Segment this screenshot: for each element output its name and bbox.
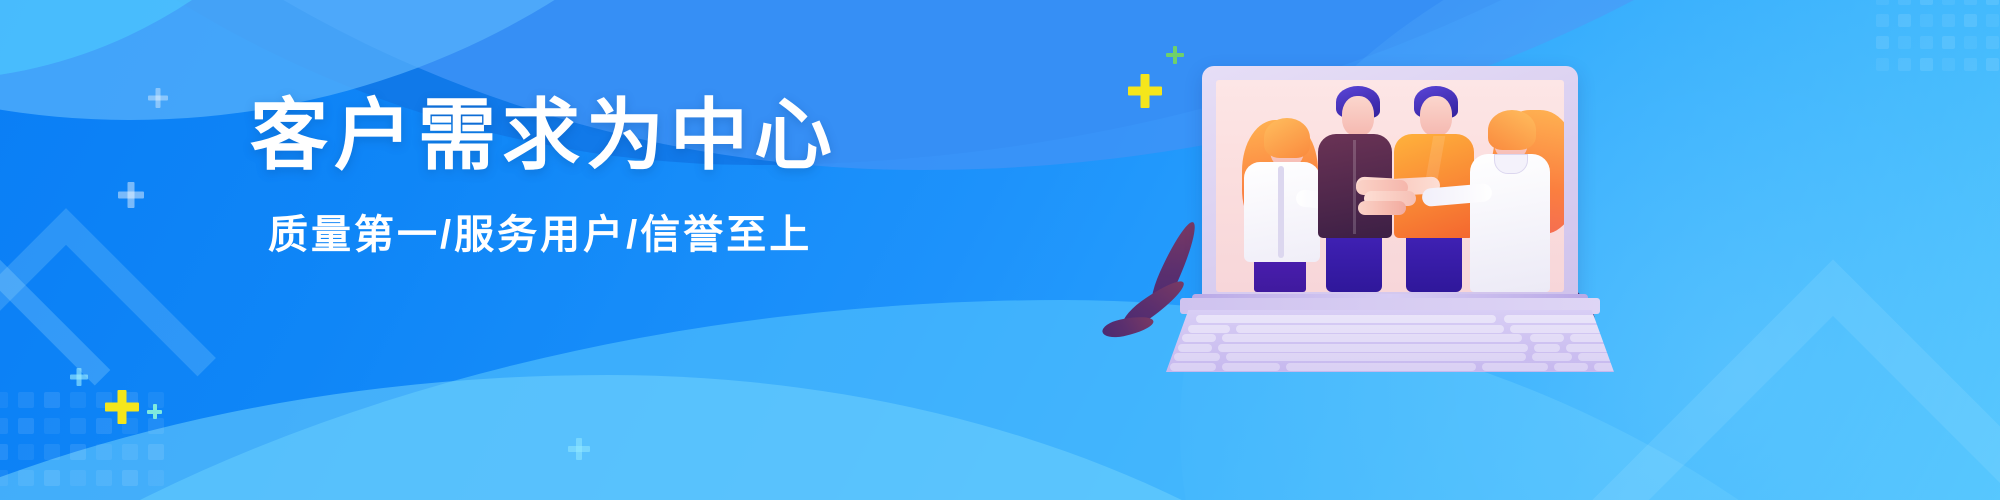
dot-cell xyxy=(1986,14,1999,27)
keyboard-key xyxy=(1178,344,1212,352)
dot-cell xyxy=(96,470,112,486)
banner-subtitle: 质量第一/服务用户/信誉至上 xyxy=(268,202,890,260)
chevron-right xyxy=(1571,259,2000,500)
plus-icon-white-mid xyxy=(118,182,144,208)
keyboard-key xyxy=(1482,363,1548,371)
dot-cell xyxy=(1920,14,1933,27)
laptop-screen xyxy=(1216,80,1564,292)
plus-icon-yellow-bottom xyxy=(105,390,139,424)
keyboard-key xyxy=(1566,344,1632,352)
plus-icon-cyan-center xyxy=(568,438,590,460)
wave-bottom-light xyxy=(0,300,2000,500)
dot-cell xyxy=(148,444,164,460)
leaf-icon xyxy=(1101,313,1155,340)
banner-copy: 客户需求为中心 质量第一/服务用户/信誉至上 xyxy=(250,96,890,260)
keyboard-key xyxy=(1222,334,1522,342)
dot-cell xyxy=(70,418,86,434)
keyboard-key xyxy=(1218,344,1528,352)
dot-cell xyxy=(1898,58,1911,71)
keyboard-key xyxy=(1222,363,1280,371)
dot-cell xyxy=(18,392,34,408)
laptop-keyboard xyxy=(1166,310,1614,372)
dot-cell xyxy=(1876,58,1889,71)
keyboard-key xyxy=(1174,353,1220,361)
dot-cell xyxy=(70,392,86,408)
team-handstack-illustration xyxy=(1216,80,1564,292)
head xyxy=(1420,96,1452,136)
plus-icon-cyan-faint xyxy=(70,368,88,386)
dot-cell xyxy=(1986,58,1999,71)
dot-cell xyxy=(1920,0,1933,5)
plus-icon-cyan-bottom xyxy=(147,404,162,419)
keyboard-key xyxy=(1570,334,1626,342)
white-dress xyxy=(1470,154,1550,292)
laptop-lid xyxy=(1202,66,1578,302)
keyboard-key xyxy=(1578,353,1634,361)
dot-cell xyxy=(1942,0,1955,5)
page-title: 客户需求为中心 xyxy=(250,96,890,176)
dot-cell xyxy=(1876,0,1889,5)
dot-cell xyxy=(1986,36,1999,49)
keyboard-key xyxy=(1182,334,1216,342)
dot-cell xyxy=(148,470,164,486)
dot-cell xyxy=(0,392,8,408)
keyboard-key xyxy=(1226,353,1526,361)
dot-cell xyxy=(18,470,34,486)
dot-cell xyxy=(70,470,86,486)
dot-cell xyxy=(1986,0,1999,5)
dot-cell xyxy=(44,418,60,434)
keyboard-key xyxy=(1532,353,1572,361)
keyboard-key xyxy=(1504,315,1600,323)
keyboard-key xyxy=(1510,325,1606,333)
dot-cell xyxy=(1942,58,1955,71)
dot-cell xyxy=(1920,36,1933,49)
dot-cell xyxy=(44,392,60,408)
cardigan-lapel xyxy=(1278,166,1284,258)
keyboard-key xyxy=(1188,325,1230,333)
dot-cell xyxy=(122,470,138,486)
hand-stack xyxy=(1354,176,1424,216)
keyboard-key xyxy=(1236,325,1504,333)
keyboard-key xyxy=(1286,363,1476,371)
promo-banner: 客户需求为中心 质量第一/服务用户/信誉至上 xyxy=(0,0,2000,500)
keyboard-key xyxy=(1170,363,1216,371)
head xyxy=(1342,96,1374,136)
dot-cell xyxy=(0,470,8,486)
plus-icon-white-upper xyxy=(148,88,168,108)
hand xyxy=(1358,201,1406,215)
dot-grid-top-right xyxy=(1876,0,2000,102)
keyboard-key xyxy=(1594,363,1638,371)
keyboard-key xyxy=(1554,363,1588,371)
person-woman-right xyxy=(1462,90,1564,292)
dot-cell xyxy=(1964,58,1977,71)
hair-front xyxy=(1488,110,1536,150)
dot-cell xyxy=(1964,0,1977,5)
dot-cell xyxy=(0,444,8,460)
dot-cell xyxy=(122,444,138,460)
dot-cell xyxy=(148,418,164,434)
keyboard-key xyxy=(1530,334,1564,342)
dot-cell xyxy=(96,444,112,460)
keyboard-key xyxy=(1196,315,1496,323)
dot-cell xyxy=(18,418,34,434)
dot-cell xyxy=(1920,58,1933,71)
dot-cell xyxy=(70,444,86,460)
laptop-illustration xyxy=(1180,66,1600,366)
dot-cell xyxy=(1898,14,1911,27)
wave-top-cyan xyxy=(0,0,420,80)
dot-cell xyxy=(1898,0,1911,5)
keyboard-key xyxy=(1534,344,1560,352)
plus-icon-yellow-top xyxy=(1128,74,1162,108)
dot-cell xyxy=(1876,14,1889,27)
dot-cell xyxy=(1942,14,1955,27)
wave-bottom-light-2 xyxy=(0,375,1580,500)
dot-cell xyxy=(1942,36,1955,49)
dot-cell xyxy=(44,444,60,460)
dot-cell xyxy=(1964,36,1977,49)
dot-cell xyxy=(1876,36,1889,49)
plus-icon-green-top xyxy=(1166,46,1184,64)
dot-cell xyxy=(1964,14,1977,27)
dot-cell xyxy=(1898,36,1911,49)
dot-cell xyxy=(18,444,34,460)
hair-front xyxy=(1264,118,1310,158)
dot-cell xyxy=(0,418,8,434)
dot-grid-bottom-left xyxy=(0,392,192,500)
dot-cell xyxy=(44,470,60,486)
